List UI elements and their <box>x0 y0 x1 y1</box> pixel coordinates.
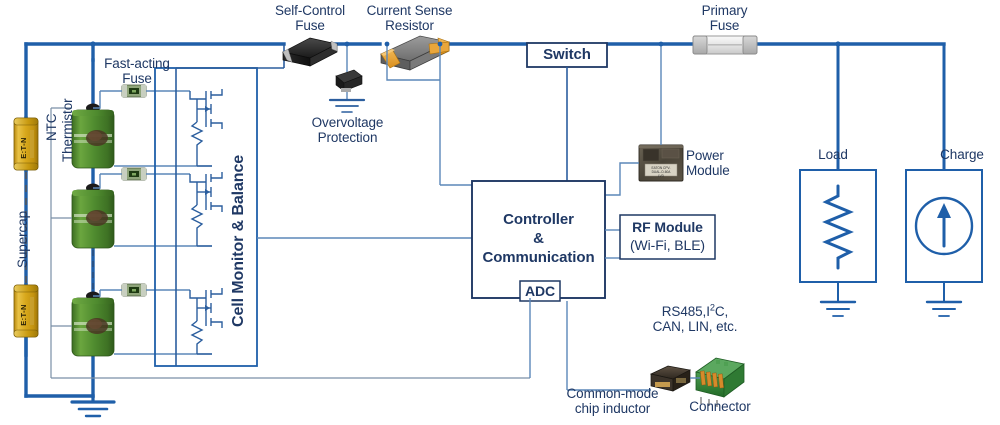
self-control-fuse-label: Self-Control Fuse <box>255 3 365 33</box>
current-sense-resistor <box>381 36 449 70</box>
supercap-top: E:T-N <box>14 118 38 170</box>
overvoltage-protection-diode <box>336 70 362 92</box>
primary-fuse <box>693 36 757 54</box>
supercap-label: Supercap <box>15 211 30 268</box>
cell-3 <box>72 292 114 357</box>
balance-resistor-2 <box>192 205 202 230</box>
power-module: EATON CPV- DUAL-O-60A LVD <box>639 145 683 181</box>
fast-acting-fuse-label: Fast-acting Fuse <box>92 56 182 86</box>
bus-protocols-line2: CAN, LIN, etc. <box>653 319 738 334</box>
balance-resistor-3 <box>192 321 202 346</box>
ntc-thermistor-label: NTC <box>44 114 59 141</box>
primary-fuse-label: Primary Fuse <box>677 3 772 33</box>
load-label: Load <box>803 147 863 162</box>
ntc-thermistor-lines <box>51 108 530 378</box>
svg-text:E:T-N: E:T-N <box>19 137 28 159</box>
cell-2 <box>72 184 114 249</box>
switch-label: Switch <box>527 47 607 64</box>
rf-module-sublabel: (Wi-Fi, BLE) <box>620 238 715 254</box>
balance-mosfet-2 <box>190 172 222 246</box>
ground-charge <box>927 282 961 316</box>
svg-text:LVD: LVD <box>658 174 665 178</box>
self-control-fuse <box>283 38 337 66</box>
balance-resistor-1 <box>192 122 202 147</box>
common-mode-inductor-label: Common-mode chip inductor <box>545 386 680 416</box>
ground-overvoltage <box>330 100 364 112</box>
cell-monitor-balance-label: Cell Monitor & Balance <box>230 155 248 327</box>
balance-mosfet-3 <box>190 288 222 354</box>
fast-acting-fuse-3 <box>122 284 146 296</box>
charge-label: Charge <box>930 147 994 162</box>
diagram-canvas: E:T-N E:T-N <box>0 0 1000 425</box>
rf-module-label: RF Module <box>620 220 715 236</box>
overvoltage-protection-label: Overvoltage Protection <box>290 115 405 145</box>
bus-protocols-line1: RS485,I2C, <box>662 304 728 319</box>
cell-1 <box>72 104 114 169</box>
current-sense-resistor-label: Current Sense Resistor <box>352 3 467 33</box>
fast-acting-fuse-2 <box>122 168 146 180</box>
power-module-label: Power Module <box>686 148 752 178</box>
svg-text:E:T-N: E:T-N <box>19 304 28 326</box>
adc-label: ADC <box>520 284 560 300</box>
ground-pack <box>72 396 114 416</box>
supercap-bottom: E:T-N <box>14 285 38 337</box>
ground-load <box>821 282 855 316</box>
controller-label: Controller & Communication <box>472 211 605 268</box>
thermistor-label: Thermistor <box>60 98 75 162</box>
connector-label: Connector <box>675 399 765 414</box>
bus-protocols-label: RS485,I2C,CAN, LIN, etc. <box>620 302 770 334</box>
fast-acting-fuse-1 <box>122 85 146 97</box>
